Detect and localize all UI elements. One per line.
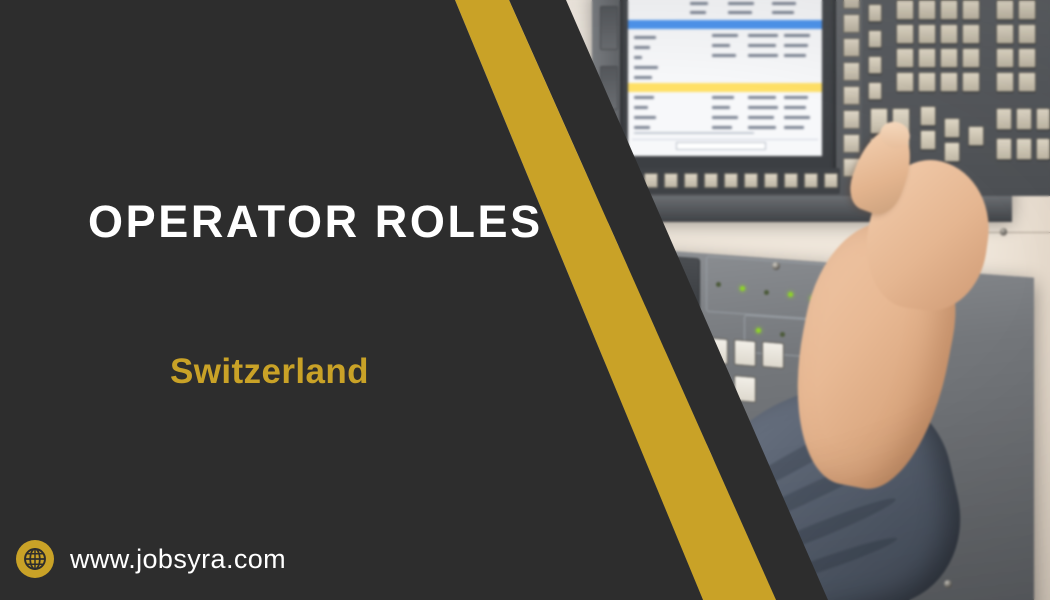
console-slot [600, 6, 618, 50]
globe-icon [16, 540, 54, 578]
page-subtitle: Switzerland [170, 352, 369, 392]
wall-screw [1000, 228, 1007, 235]
cnc-screen [628, 0, 822, 156]
website-url[interactable]: www.jobsyra.com [70, 544, 286, 575]
footer: www.jobsyra.com [16, 540, 286, 578]
promo-card: OPERATOR ROLES Switzerland www.jobsyra.c… [0, 0, 1050, 600]
page-title: OPERATOR ROLES [88, 198, 543, 245]
